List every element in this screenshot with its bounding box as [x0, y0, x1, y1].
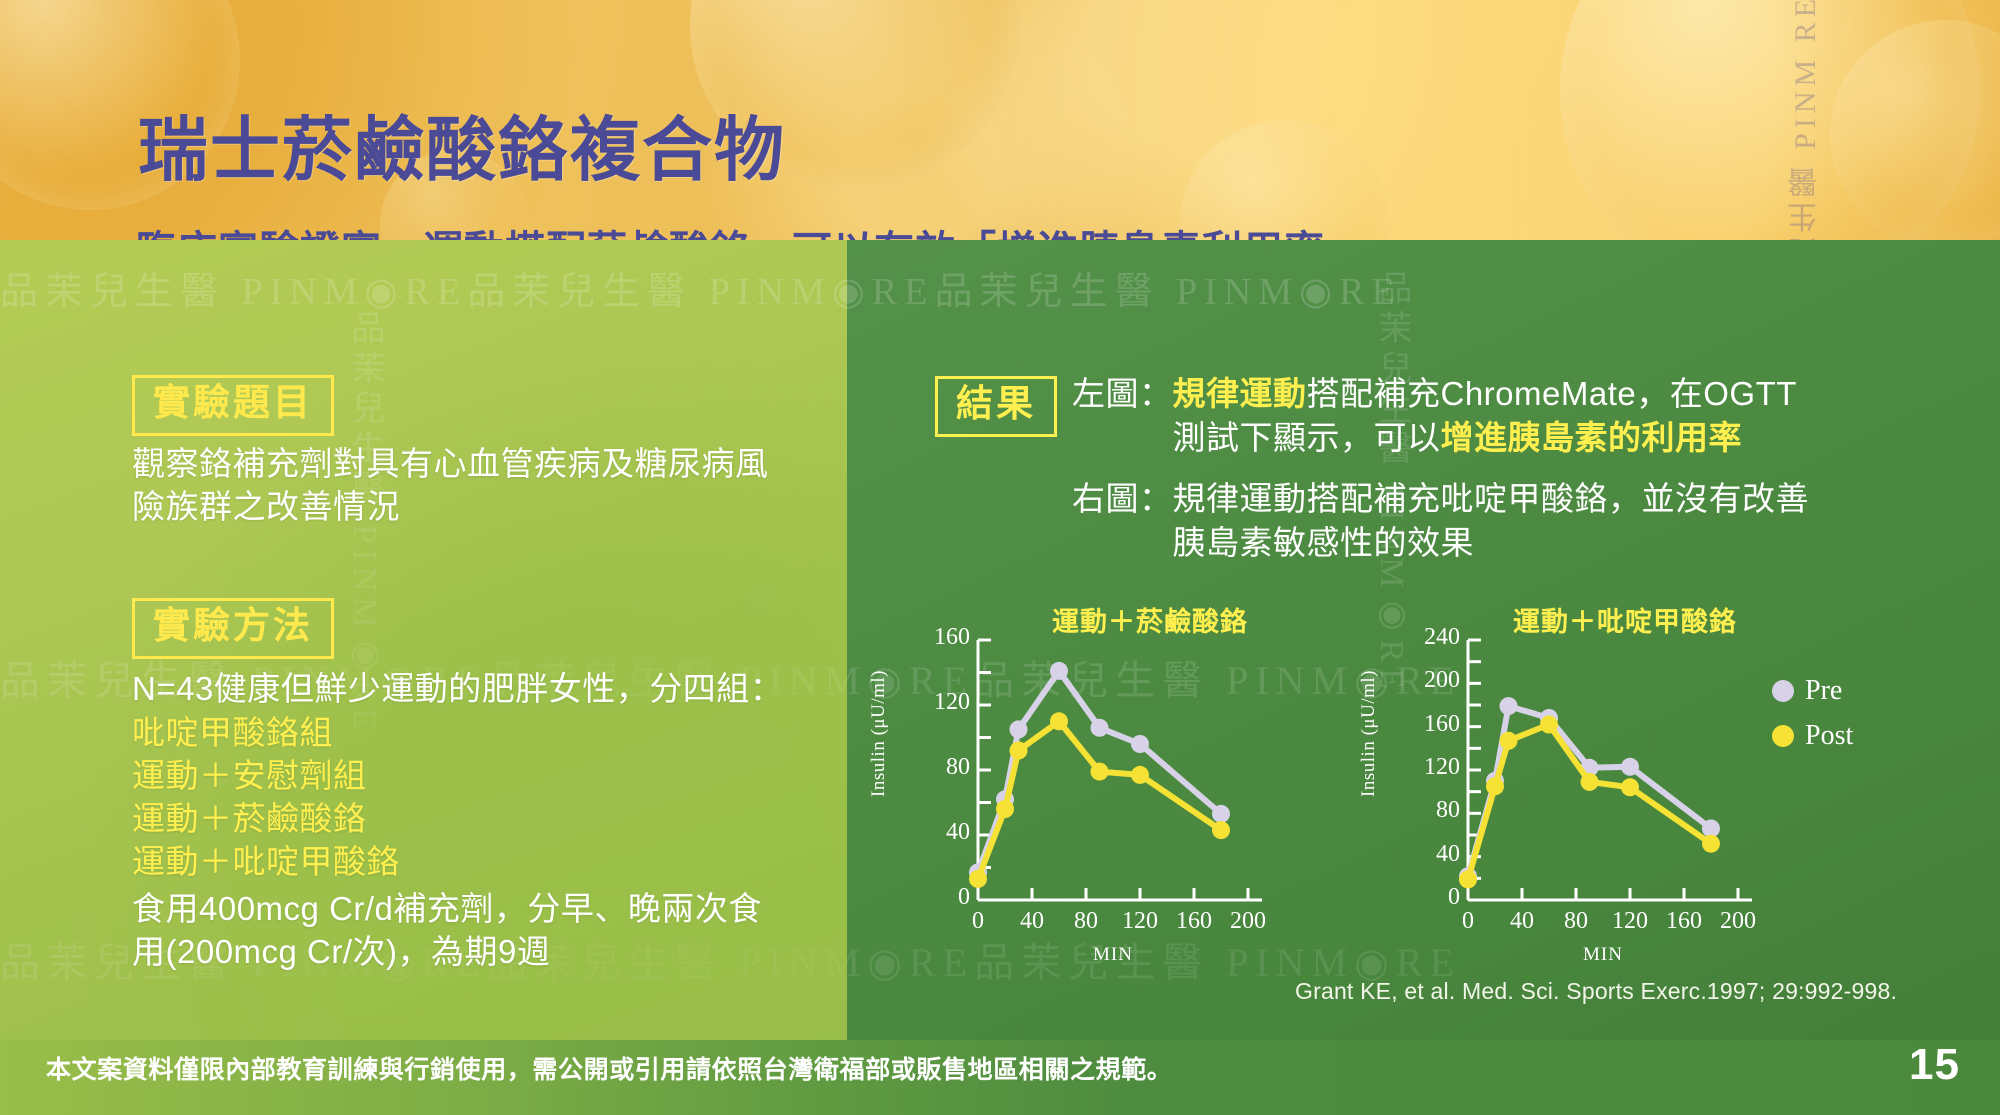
chart-y-tick: 120 [908, 689, 970, 716]
method-group-list: 吡啶甲酸鉻組 運動＋安慰劑組 運動＋菸鹼酸鉻 運動＋吡啶甲酸鉻 [132, 712, 832, 884]
page-title: 瑞士菸鹼酸鉻複合物 [138, 94, 786, 195]
legend-label-pre: Pre [1805, 675, 1842, 707]
brand-watermark-vertical: 品茉兒生醫 PINM RE [1784, 0, 1828, 240]
section-heading-experiment-method: 實驗方法 [132, 598, 334, 659]
experiment-topic-text: 觀察鉻補充劑對具有心血管疾病及糖尿病風 險族群之改善情況 [132, 443, 812, 529]
chart-y-axis-label: Insulin (μU/ml) [868, 670, 890, 797]
results-list: 左圖： 規律運動搭配補充ChromeMate，在OGTT 測試下顯示，可以增進胰… [1072, 372, 1872, 564]
chart-legend: Pre Post [1772, 675, 1853, 765]
chart-y-tick: 120 [1398, 754, 1460, 781]
chart-plot-area [1390, 600, 1890, 960]
result-highlight: 增進胰島素的利用率 [1441, 419, 1743, 456]
legend-item-pre: Pre [1772, 675, 1853, 707]
watermark-row: 品茉兒生醫 PINM◉RE 品茉兒生醫 PINM◉RE [0, 260, 847, 315]
legend-label-post: Post [1805, 720, 1853, 752]
result-lead-right-chart: 右圖： [1072, 477, 1173, 521]
result-text: 胰島素敏感性的效果 [1173, 524, 1475, 561]
chart-y-tick: 0 [1398, 884, 1460, 911]
result-text: 規律運動搭配補充吡啶甲酸鉻，並沒有改善 [1173, 480, 1810, 517]
chart-y-tick: 0 [908, 884, 970, 911]
chart-y-tick: 80 [908, 754, 970, 781]
chart-plot-area [900, 600, 1380, 960]
chart-y-tick: 40 [908, 819, 970, 846]
method-dosing-text: 食用400mcg Cr/d補充劑，分早、晚兩次食 用(200mcg Cr/次)，… [132, 888, 832, 974]
result-highlight: 規律運動 [1173, 375, 1307, 412]
chart-exercise-plus-chromemate: 運動＋菸鹼酸鉻 Insulin (μU/ml) MIN 040801201600… [900, 600, 1380, 960]
result-item: 左圖： 規律運動搭配補充ChromeMate，在OGTT 測試下顯示，可以增進胰… [1072, 372, 1872, 459]
section-heading-results: 結果 [935, 376, 1057, 437]
result-body-left-chart: 規律運動搭配補充ChromeMate，在OGTT 測試下顯示，可以增進胰島素的利… [1173, 372, 1873, 459]
page-number: 15 [1909, 1040, 1960, 1090]
legend-item-post: Post [1772, 720, 1853, 752]
chart-exercise-plus-picolinate: 運動＋吡啶甲酸鉻 Insulin (μU/ml) MIN 04080120160… [1390, 600, 1890, 960]
source-citation: Grant KE, et al. Med. Sci. Sports Exerc.… [1295, 978, 1897, 1005]
chart-y-tick: 160 [1398, 711, 1460, 738]
slide-root: 品茉兒生醫 PINM RE 瑞士菸鹼酸鉻複合物 臨床實驗證實，運動搭配菸鹼酸鉻，… [0, 0, 2000, 1115]
result-body-right-chart: 規律運動搭配補充吡啶甲酸鉻，並沒有改善 胰島素敏感性的效果 [1173, 477, 1873, 564]
legend-swatch-post [1772, 725, 1794, 747]
chart-x-tick: 200 [1703, 908, 1773, 935]
section-heading-experiment-topic: 實驗題目 [132, 375, 334, 436]
footer-disclaimer: 本文案資料僅限內部教育訓練與行銷使用，需公開或引用請依照台灣衛福部或販售地區相關… [46, 1050, 1172, 1086]
chart-y-tick: 80 [1398, 797, 1460, 824]
chart-y-tick: 240 [1398, 624, 1460, 651]
legend-swatch-pre [1772, 680, 1794, 702]
result-text: 測試下顯示，可以 [1173, 419, 1441, 456]
watermark-row: 品茉兒生醫 PINM◉RE 品茉兒生醫 PINM◉RE 品茉兒生醫 PINM◉R… [847, 260, 2000, 315]
chart-y-tick: 40 [1398, 841, 1460, 868]
chart-y-axis-label: Insulin (μU/ml) [1358, 670, 1380, 797]
result-item: 右圖： 規律運動搭配補充吡啶甲酸鉻，並沒有改善 胰島素敏感性的效果 [1072, 477, 1872, 564]
chart-y-tick: 200 [1398, 667, 1460, 694]
chart-x-tick: 200 [1213, 908, 1283, 935]
chart-y-tick: 160 [908, 624, 970, 651]
method-line-subjects: N=43健康但鮮少運動的肥胖女性，分四組： [132, 668, 832, 711]
result-text: 搭配補充ChromeMate，在OGTT [1307, 375, 1797, 412]
result-lead-left-chart: 左圖： [1072, 372, 1173, 416]
